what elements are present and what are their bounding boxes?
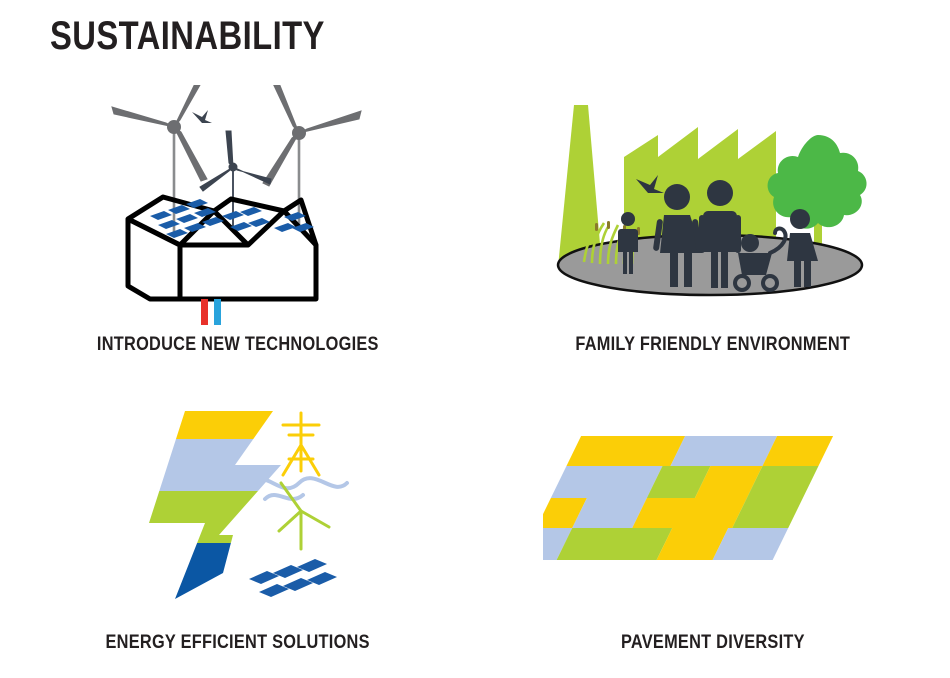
lightning-bolt-energy-svg	[123, 403, 353, 603]
page-title: SUSTAINABILITY	[50, 12, 325, 60]
pavement-tiles	[543, 436, 833, 560]
card-pavement-diversity[interactable]: PAVEMENT DIVERSITY	[475, 380, 950, 678]
water-waves-icon	[249, 478, 347, 499]
lightning-bolt-energy-icon	[0, 380, 475, 625]
card-label-pavement-diversity: PAVEMENT DIVERSITY	[475, 632, 950, 654]
pavement-grid-icon	[475, 380, 950, 625]
pavement-grid-svg	[543, 428, 883, 578]
power-pylon-icon	[283, 413, 319, 475]
factory-solar-wind-svg	[88, 85, 388, 325]
bolt-color-bands	[123, 403, 353, 603]
card-label-energy-efficient-solutions: ENERGY EFFICIENT SOLUTIONS	[0, 632, 535, 654]
card-label-introduce-new-technologies: INTRODUCE NEW TECHNOLOGIES	[0, 334, 535, 356]
card-family-friendly-environment[interactable]: FAMILY FRIENDLY ENVIRONMENT	[475, 82, 950, 380]
bird-icon	[192, 110, 212, 123]
factory-solar-wind-icon	[0, 82, 475, 327]
infographic-grid: INTRODUCE NEW TECHNOLOGIES	[0, 82, 950, 678]
family-park-icon	[475, 82, 950, 327]
solar-array-icon	[249, 559, 337, 597]
card-introduce-new-technologies[interactable]: INTRODUCE NEW TECHNOLOGIES	[0, 82, 475, 380]
factory-building	[128, 197, 316, 299]
card-energy-efficient-solutions[interactable]: ENERGY EFFICIENT SOLUTIONS	[0, 380, 475, 678]
family-park-svg	[538, 97, 888, 312]
pipes-group	[201, 299, 221, 325]
wind-turbine-icon	[279, 483, 329, 549]
card-label-family-friendly-environment: FAMILY FRIENDLY ENVIRONMENT	[475, 334, 950, 356]
